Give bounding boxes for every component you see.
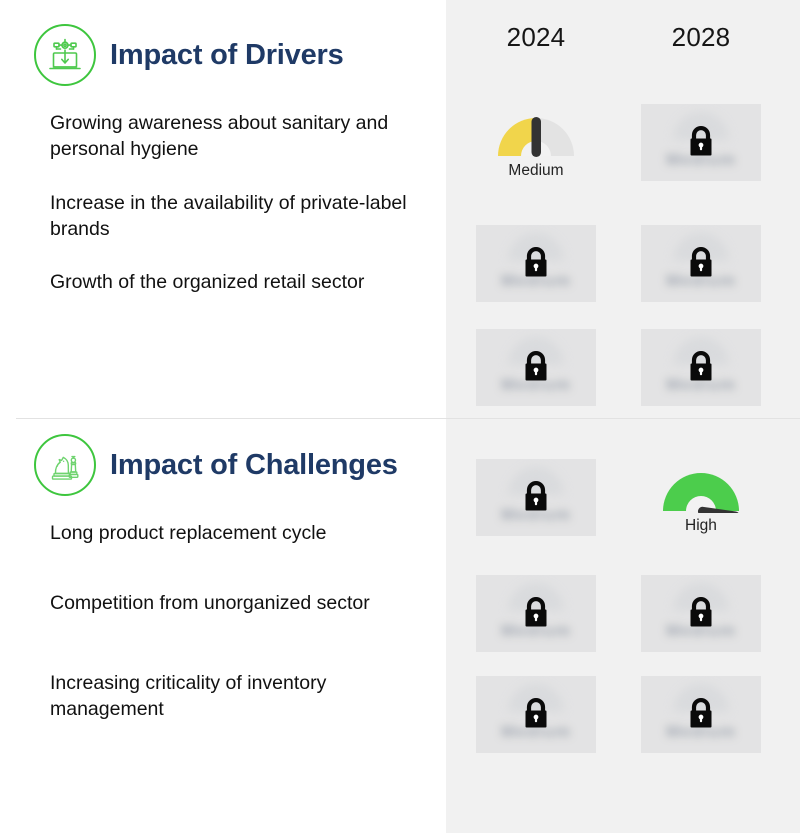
locked-tile[interactable]: Medium bbox=[641, 329, 761, 406]
section-title-drivers: Impact of Drivers bbox=[110, 39, 344, 72]
locked-tile[interactable]: Medium bbox=[476, 676, 596, 753]
cell-drivers-r2-c2028[interactable]: Medium bbox=[641, 225, 761, 311]
cell-drivers-r3-c2024[interactable]: Medium bbox=[476, 329, 596, 415]
cell-challenges-r1-c2024[interactable]: Medium bbox=[476, 459, 596, 545]
gauge-label: Medium bbox=[476, 162, 596, 180]
cell-drivers-r1-c2024[interactable]: Medium bbox=[476, 108, 596, 194]
cell-challenges-r3-c2028[interactable]: Medium bbox=[641, 676, 761, 762]
lock-icon bbox=[519, 594, 553, 630]
drivers-growth-icon bbox=[34, 24, 96, 86]
labels-column: Impact of Drivers Growing awareness abou… bbox=[0, 0, 446, 833]
gauge-arc bbox=[659, 469, 743, 511]
challenge-row-label-3: Increasing criticality of inventory mana… bbox=[50, 670, 425, 722]
lock-icon bbox=[684, 594, 718, 630]
cell-challenges-r1-c2028[interactable]: High bbox=[641, 463, 761, 549]
gauge-arc bbox=[494, 114, 578, 156]
cell-challenges-r3-c2024[interactable]: Medium bbox=[476, 676, 596, 762]
column-header-2024: 2024 bbox=[476, 22, 596, 53]
driver-row-label-2: Increase in the availability of private-… bbox=[50, 190, 425, 242]
locked-tile[interactable]: Medium bbox=[476, 225, 596, 302]
locked-tile[interactable]: Medium bbox=[476, 329, 596, 406]
lock-icon bbox=[684, 123, 718, 159]
lock-icon bbox=[519, 478, 553, 514]
section-title-challenges: Impact of Challenges bbox=[110, 449, 398, 482]
chess-pieces-icon bbox=[34, 434, 96, 496]
locked-tile[interactable]: Medium bbox=[641, 676, 761, 753]
gauge-label: High bbox=[641, 517, 761, 535]
lock-icon bbox=[519, 244, 553, 280]
cell-challenges-r2-c2028[interactable]: Medium bbox=[641, 575, 761, 661]
section-header-challenges: Impact of Challenges bbox=[34, 434, 398, 496]
cell-challenges-r2-c2024[interactable]: Medium bbox=[476, 575, 596, 661]
locked-tile[interactable]: Medium bbox=[476, 459, 596, 536]
cell-drivers-r2-c2024[interactable]: Medium bbox=[476, 225, 596, 311]
challenge-row-label-1: Long product replacement cycle bbox=[50, 520, 425, 546]
gauge-high: High bbox=[641, 463, 761, 549]
locked-tile[interactable]: Medium bbox=[641, 225, 761, 302]
lock-icon bbox=[684, 244, 718, 280]
driver-row-label-1: Growing awareness about sanitary and per… bbox=[50, 110, 425, 162]
section-header-drivers: Impact of Drivers bbox=[34, 24, 344, 86]
lock-icon bbox=[519, 695, 553, 731]
locked-tile[interactable]: Medium bbox=[641, 104, 761, 181]
lock-icon bbox=[684, 348, 718, 384]
cell-drivers-r1-c2028[interactable]: Medium bbox=[641, 104, 761, 190]
locked-tile[interactable]: Medium bbox=[641, 575, 761, 652]
impact-matrix-page: Impact of Drivers Growing awareness abou… bbox=[0, 0, 800, 833]
challenge-row-label-2: Competition from unorganized sector bbox=[50, 590, 425, 616]
section-divider bbox=[16, 418, 800, 419]
gauge-medium: Medium bbox=[476, 108, 596, 194]
locked-tile[interactable]: Medium bbox=[476, 575, 596, 652]
driver-row-label-3: Growth of the organized retail sector bbox=[50, 269, 425, 295]
lock-icon bbox=[684, 695, 718, 731]
lock-icon bbox=[519, 348, 553, 384]
cell-drivers-r3-c2028[interactable]: Medium bbox=[641, 329, 761, 415]
column-header-2028: 2028 bbox=[641, 22, 761, 53]
